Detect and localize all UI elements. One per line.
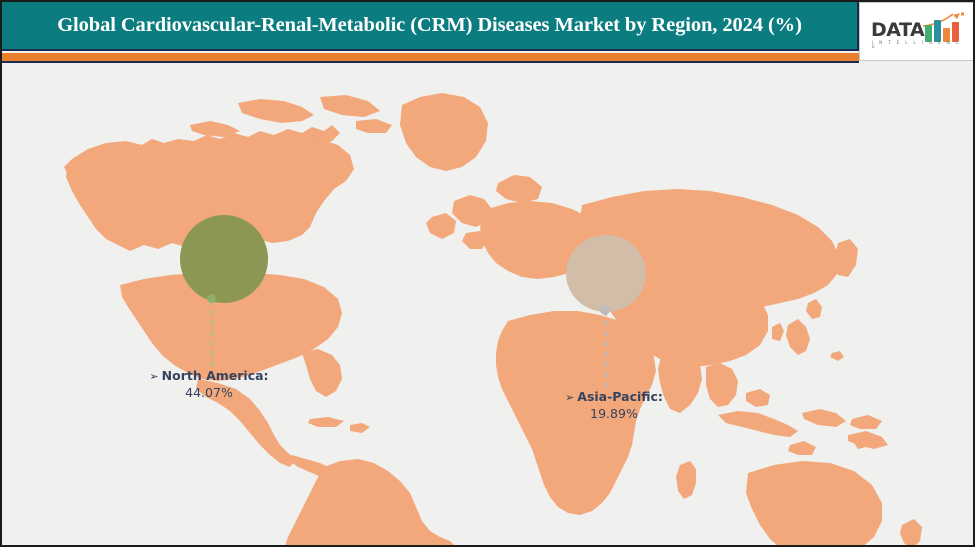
- world-map-svg: [2, 63, 973, 545]
- callout-title-asia-pacific: ➢Asia-Pacific:: [540, 389, 688, 405]
- logo-bar-teal: [934, 20, 941, 42]
- infographic-page: Global Cardiovascular-Renal-Metabolic (C…: [0, 0, 975, 547]
- callout-title-north-america: ➢North America:: [134, 368, 284, 384]
- bubble-asia-pacific[interactable]: [566, 235, 646, 312]
- brand-logo[interactable]: DATA I N T E L L I G E N C E: [859, 2, 975, 61]
- arrow-bullet-icon: ➢: [565, 391, 574, 404]
- bubble-north-america[interactable]: [180, 215, 268, 303]
- callout-asia-pacific: ➢Asia-Pacific: 19.89%: [540, 389, 688, 424]
- logo-tagline: I N T E L L I G E N C E: [872, 42, 968, 51]
- callout-value-north-america: 44.07%: [134, 384, 284, 403]
- leader-dot-north-america: [207, 294, 216, 303]
- callout-value-asia-pacific: 19.89%: [540, 405, 688, 424]
- landmasses: [64, 93, 922, 545]
- logo-wordmark: DATA: [871, 21, 924, 40]
- callout-label-north-america: North America:: [162, 368, 269, 383]
- page-title: Global Cardiovascular-Renal-Metabolic (C…: [57, 15, 802, 36]
- callout-north-america: ➢North America: 44.07%: [134, 368, 284, 403]
- logo-bar-orange: [943, 28, 950, 42]
- leader-line-asia-pacific: [605, 310, 607, 388]
- world-map: [2, 63, 973, 545]
- logo-bar-green: [925, 25, 932, 42]
- header-accent-underline: [2, 61, 859, 63]
- logo-inner: DATA I N T E L L I G E N C E: [868, 12, 968, 52]
- logo-bar-red: [952, 22, 959, 42]
- leader-dot-asia-pacific: [600, 305, 610, 315]
- leader-line-north-america: [211, 299, 213, 367]
- arrow-bullet-icon: ➢: [149, 370, 158, 383]
- header-accent-stripe: [2, 53, 859, 61]
- header-bar: Global Cardiovascular-Renal-Metabolic (C…: [2, 2, 859, 51]
- callout-label-asia-pacific: Asia-Pacific:: [577, 389, 663, 404]
